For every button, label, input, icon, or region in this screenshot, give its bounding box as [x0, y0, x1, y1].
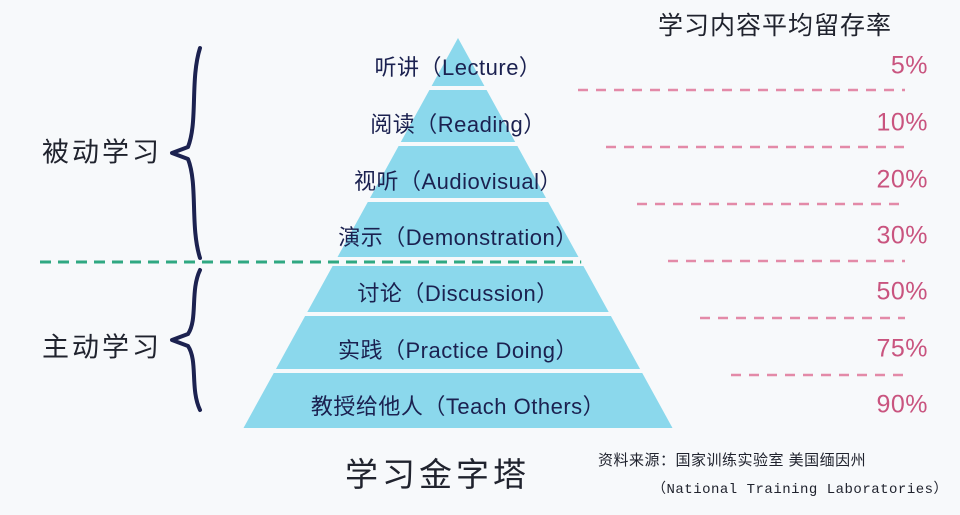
retention-value: 20%: [876, 166, 928, 195]
pyramid-level-label: 阅读（Reading）: [370, 107, 545, 139]
retention-dashed-rules: [578, 90, 905, 375]
pyramid-level-label: 视听（Audiovisual）: [354, 164, 562, 196]
page-title: 学习金字塔: [345, 448, 530, 496]
pyramid-level-label: 演示（Demonstration）: [338, 220, 578, 252]
retention-value: 30%: [876, 222, 928, 251]
pyramid-level-label: 讨论（Discussion）: [357, 276, 558, 308]
retention-column-header: 学习内容平均留存率: [620, 6, 930, 42]
retention-value: 90%: [876, 391, 928, 420]
label-passive-learning: 被动学习: [42, 131, 162, 170]
retention-value: 50%: [876, 278, 928, 307]
pyramid-level-label: 实践（Practice Doing）: [338, 333, 578, 365]
group-braces: [172, 48, 200, 410]
retention-value: 75%: [876, 335, 928, 364]
retention-value: 5%: [891, 52, 928, 81]
pyramid-level-label: 听讲（Lecture）: [375, 50, 542, 82]
pyramid-level-label: 教授给他人（Teach Others）: [311, 389, 605, 421]
label-active-learning: 主动学习: [42, 326, 162, 365]
source-attribution-english: （National Training Laboratories）: [652, 478, 948, 498]
learning-pyramid-diagram: 听讲（Lecture）阅读（Reading）视听（Audiovisual）演示（…: [0, 0, 960, 515]
source-attribution-chinese: 资料来源：国家训练实验室 美国缅因州: [598, 449, 866, 470]
brace-passive-learning: [172, 48, 200, 258]
retention-value: 10%: [876, 109, 928, 138]
brace-active-learning: [172, 270, 200, 410]
